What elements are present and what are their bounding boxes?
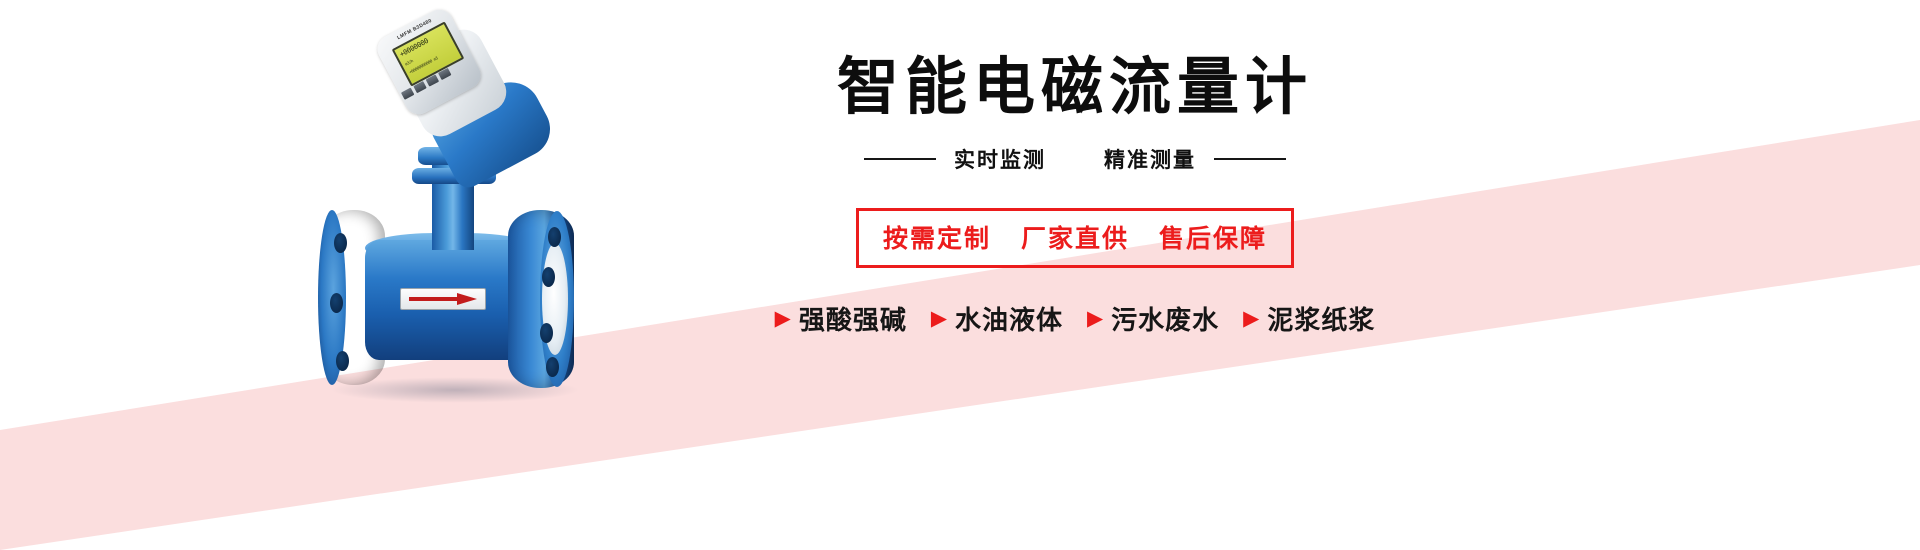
promo-item-after-sales: 售后保障 [1159, 219, 1267, 255]
subtitle-rule-left [864, 158, 936, 160]
triangle-right-icon: ▶ [931, 308, 947, 329]
feature-item-slurry-pulp: ▶ 泥浆纸浆 [1243, 300, 1375, 337]
flange-bolt-hole [334, 233, 347, 253]
promo-banner: LMFM B3D480 +0000000 m3/h +00000000000 m… [0, 0, 1920, 550]
product-image-flowmeter: LMFM B3D480 +0000000 m3/h +00000000000 m… [290, 5, 630, 425]
subtitle-rule-right [1214, 158, 1286, 160]
banner-subtitle: 实时监测 精准测量 [610, 144, 1540, 174]
feature-label: 泥浆纸浆 [1267, 300, 1375, 337]
subtitle-text-b: 精准测量 [1104, 144, 1196, 174]
flange-bolt-hole [542, 267, 555, 287]
feature-label: 强酸强碱 [799, 300, 907, 337]
flange-bolt-hole [330, 293, 343, 313]
flow-direction-plate [400, 288, 486, 310]
flow-direction-arrow-icon [409, 293, 477, 305]
promo-item-custom: 按需定制 [883, 219, 991, 255]
flange-bolt-hole [336, 351, 349, 371]
subtitle-text-a: 实时监测 [954, 144, 1046, 174]
triangle-right-icon: ▶ [1243, 308, 1259, 329]
feature-label: 污水废水 [1111, 300, 1219, 337]
banner-copy-column: 智能电磁流量计 实时监测 精准测量 按需定制 厂家直供 售后保障 ▶ 强酸强碱 … [610, 30, 1540, 370]
triangle-right-icon: ▶ [775, 308, 791, 329]
flange-bolt-hole [540, 323, 553, 343]
promo-item-factory-direct: 厂家直供 [1021, 219, 1129, 255]
promo-box: 按需定制 厂家直供 售后保障 [856, 208, 1294, 268]
feature-label: 水油液体 [955, 300, 1063, 337]
feature-item-sewage-wastewater: ▶ 污水废水 [1087, 300, 1219, 337]
flange-bolt-hole [548, 227, 561, 247]
promo-box-wrapper: 按需定制 厂家直供 售后保障 [610, 208, 1540, 268]
feature-item-strong-acid-alkali: ▶ 强酸强碱 [775, 300, 907, 337]
banner-headline: 智能电磁流量计 [610, 56, 1540, 118]
flange-bolt-hole [546, 357, 559, 377]
feature-item-water-oil-liquid: ▶ 水油液体 [931, 300, 1063, 337]
feature-list: ▶ 强酸强碱 ▶ 水油液体 ▶ 污水废水 ▶ 泥浆纸浆 [610, 300, 1540, 337]
triangle-right-icon: ▶ [1087, 308, 1103, 329]
